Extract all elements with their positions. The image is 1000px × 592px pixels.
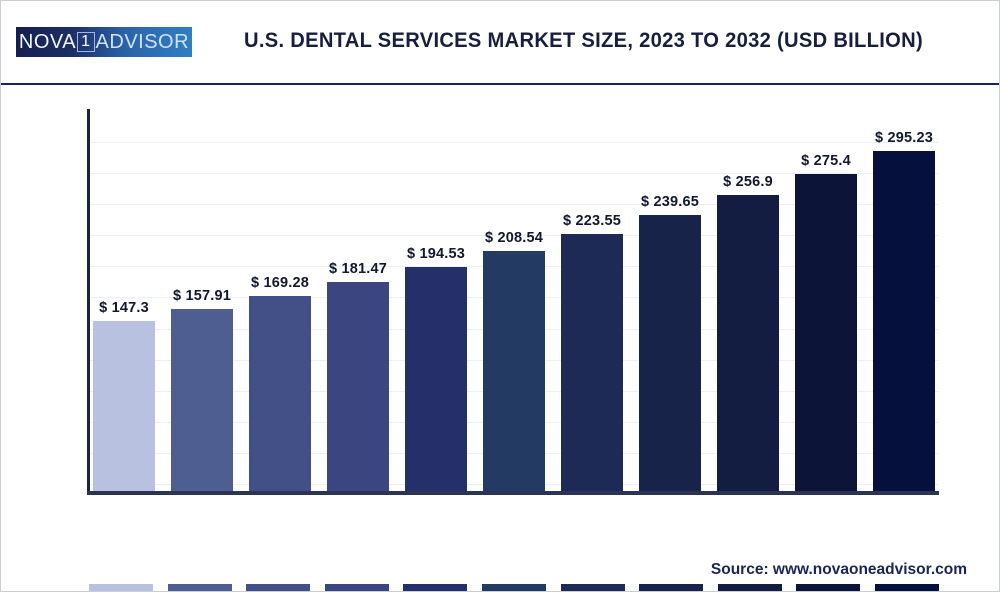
bar bbox=[93, 321, 155, 491]
bar bbox=[171, 309, 233, 491]
bar bbox=[561, 234, 623, 491]
page-title: U.S. DENTAL SERVICES MARKET SIZE, 2023 T… bbox=[244, 29, 887, 53]
bar bbox=[873, 151, 935, 491]
logo-wordmark: NOVA1ADVISOR bbox=[19, 31, 189, 54]
bar-value-label: $ 147.3 bbox=[99, 300, 149, 316]
bar-value-label: $ 208.54 bbox=[485, 230, 543, 246]
chart-canvas: $ 147.3$ 157.91$ 169.28$ 181.47$ 194.53$… bbox=[1, 85, 1000, 545]
logo-one-badge: 1 bbox=[77, 32, 94, 52]
bar bbox=[717, 195, 779, 491]
bar-value-label: $ 239.65 bbox=[641, 194, 699, 210]
bar-group: $ 239.65 bbox=[635, 111, 705, 491]
bar-group: $ 256.9 bbox=[713, 111, 783, 491]
nova-advisor-logo: NOVA1ADVISOR bbox=[16, 27, 192, 57]
bar-group: $ 147.3 bbox=[89, 111, 159, 491]
bar bbox=[639, 215, 701, 491]
source-attribution: Source: www.novaoneadvisor.com bbox=[711, 561, 967, 579]
bar-value-label: $ 169.28 bbox=[251, 275, 309, 291]
x-axis-line bbox=[87, 491, 939, 495]
header-bar: NOVA1ADVISOR U.S. DENTAL SERVICES MARKET… bbox=[1, 1, 1000, 85]
bar-value-label: $ 157.91 bbox=[173, 288, 231, 304]
bar-value-label: $ 194.53 bbox=[407, 246, 465, 262]
bar-value-label: $ 256.9 bbox=[723, 174, 773, 190]
logo-nova-text: NOVA bbox=[19, 31, 76, 54]
bar-group: $ 223.55 bbox=[557, 111, 627, 491]
bar-group: $ 169.28 bbox=[245, 111, 315, 491]
bar-value-label: $ 181.47 bbox=[329, 261, 387, 277]
bar bbox=[249, 296, 311, 491]
bar-value-label: $ 223.55 bbox=[563, 213, 621, 229]
chart-infographic: NOVA1ADVISOR U.S. DENTAL SERVICES MARKET… bbox=[0, 0, 1000, 592]
bar-group: $ 208.54 bbox=[479, 111, 549, 491]
bar bbox=[405, 267, 467, 491]
bar-series: $ 147.3$ 157.91$ 169.28$ 181.47$ 194.53$… bbox=[89, 111, 939, 491]
bar bbox=[483, 251, 545, 491]
bar-group: $ 275.4 bbox=[791, 111, 861, 491]
bar bbox=[327, 282, 389, 491]
bar-value-label: $ 275.4 bbox=[801, 153, 851, 169]
bar-group: $ 157.91 bbox=[167, 111, 237, 491]
logo-advisor-text: ADVISOR bbox=[96, 31, 190, 54]
footer-bar: Source: www.novaoneadvisor.com bbox=[1, 549, 1000, 592]
bar-value-label: $ 295.23 bbox=[875, 130, 933, 146]
bar bbox=[795, 174, 857, 491]
bar-group: $ 295.23 bbox=[869, 111, 939, 491]
bar-group: $ 194.53 bbox=[401, 111, 471, 491]
bar-group: $ 181.47 bbox=[323, 111, 393, 491]
